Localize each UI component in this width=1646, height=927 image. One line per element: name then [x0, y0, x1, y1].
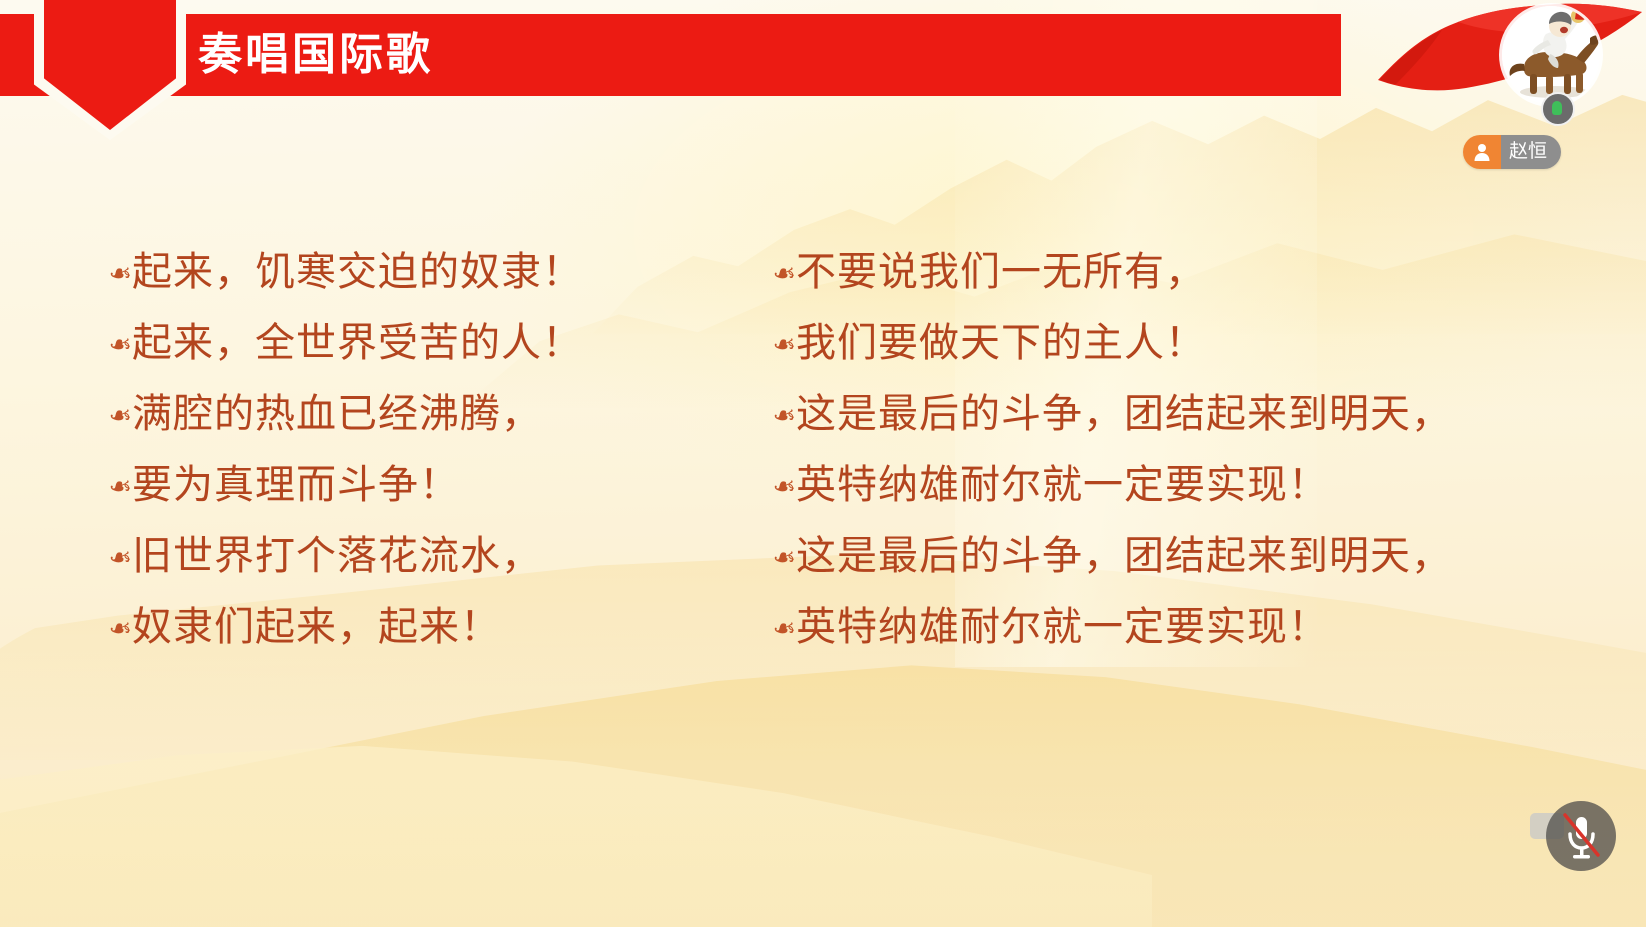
lyrics-text: 旧世界打个落花流水，: [132, 523, 542, 581]
cloud-swirl-bullet-icon: ❧: [750, 473, 796, 501]
lyrics-text: 我们要做天下的主人！: [796, 310, 1206, 368]
cloud-swirl-bullet-icon: ❧: [750, 260, 796, 288]
lyrics-line: ❧ 起来，饥寒交迫的奴隶！: [86, 232, 740, 303]
lyrics-line: ❧ 英特纳雄耐尔就一定要实现！: [750, 587, 1646, 658]
lyrics-text: 这是最后的斗争，团结起来到明天，: [796, 523, 1452, 581]
microphone-muted-button[interactable]: [1538, 795, 1620, 877]
cloud-swirl-bullet-icon: ❧: [86, 402, 132, 430]
lyrics-line: ❧ 这是最后的斗争，团结起来到明天，: [750, 516, 1646, 587]
lyrics-column-right: ❧ 不要说我们一无所有， ❧ 我们要做天下的主人！ ❧ 这是最后的斗争，团结起来…: [740, 232, 1646, 658]
cloud-swirl-bullet-icon: ❧: [86, 615, 132, 643]
lyrics-text: 起来，饥寒交迫的奴隶！: [132, 239, 583, 297]
lyrics-column-left: ❧ 起来，饥寒交迫的奴隶！ ❧ 起来，全世界受苦的人！ ❧ 满腔的热血已经沸腾，…: [0, 232, 740, 658]
user-name-label: 赵恒: [1501, 135, 1561, 169]
avatar-status-badge: [1541, 92, 1575, 126]
cloud-swirl-bullet-icon: ❧: [750, 331, 796, 359]
lyrics-line: ❧ 起来，全世界受苦的人！: [86, 303, 740, 374]
cloud-swirl-bullet-icon: ❧: [750, 615, 796, 643]
lyrics-text: 满腔的热血已经沸腾，: [132, 381, 542, 439]
cloud-swirl-bullet-icon: ❧: [86, 544, 132, 572]
page-title: 奏唱国际歌: [198, 14, 433, 96]
lyrics-line: ❧ 旧世界打个落花流水，: [86, 516, 740, 587]
lyrics-line: ❧ 我们要做天下的主人！: [750, 303, 1646, 374]
cloud-swirl-bullet-icon: ❧: [750, 544, 796, 572]
lyrics-line: ❧ 要为真理而斗争！: [86, 445, 740, 516]
avatar: [1502, 6, 1600, 104]
cloud-swirl-bullet-icon: ❧: [86, 473, 132, 501]
lyrics-text: 英特纳雄耐尔就一定要实现！: [796, 452, 1329, 510]
lyrics-text: 奴隶们起来，起来！: [132, 594, 501, 652]
lyrics-line: ❧ 不要说我们一无所有，: [750, 232, 1646, 303]
cloud-swirl-bullet-icon: ❧: [750, 402, 796, 430]
lyrics-block: ❧ 起来，饥寒交迫的奴隶！ ❧ 起来，全世界受苦的人！ ❧ 满腔的热血已经沸腾，…: [0, 232, 1646, 658]
lyrics-text: 要为真理而斗争！: [132, 452, 460, 510]
lyrics-line: ❧ 英特纳雄耐尔就一定要实现！: [750, 445, 1646, 516]
slide-canvas: 奏唱国际歌: [0, 0, 1646, 927]
user-name-chip[interactable]: 赵恒: [1463, 135, 1561, 169]
cloud-swirl-bullet-icon: ❧: [86, 260, 132, 288]
lyrics-text: 起来，全世界受苦的人！: [132, 310, 583, 368]
lyrics-line: ❧ 这是最后的斗争，团结起来到明天，: [750, 374, 1646, 445]
lyrics-line: ❧ 满腔的热血已经沸腾，: [86, 374, 740, 445]
cartoon-rider-avatar: [1502, 6, 1600, 104]
lyrics-text: 不要说我们一无所有，: [796, 239, 1206, 297]
lyrics-text: 英特纳雄耐尔就一定要实现！: [796, 594, 1329, 652]
flag-avatar-group: [1374, 0, 1646, 130]
person-icon: [1463, 135, 1501, 169]
microphone-muted-icon: [1546, 801, 1616, 871]
lyrics-line: ❧ 奴隶们起来，起来！: [86, 587, 740, 658]
cloud-swirl-bullet-icon: ❧: [86, 331, 132, 359]
lyrics-text: 这是最后的斗争，团结起来到明天，: [796, 381, 1452, 439]
